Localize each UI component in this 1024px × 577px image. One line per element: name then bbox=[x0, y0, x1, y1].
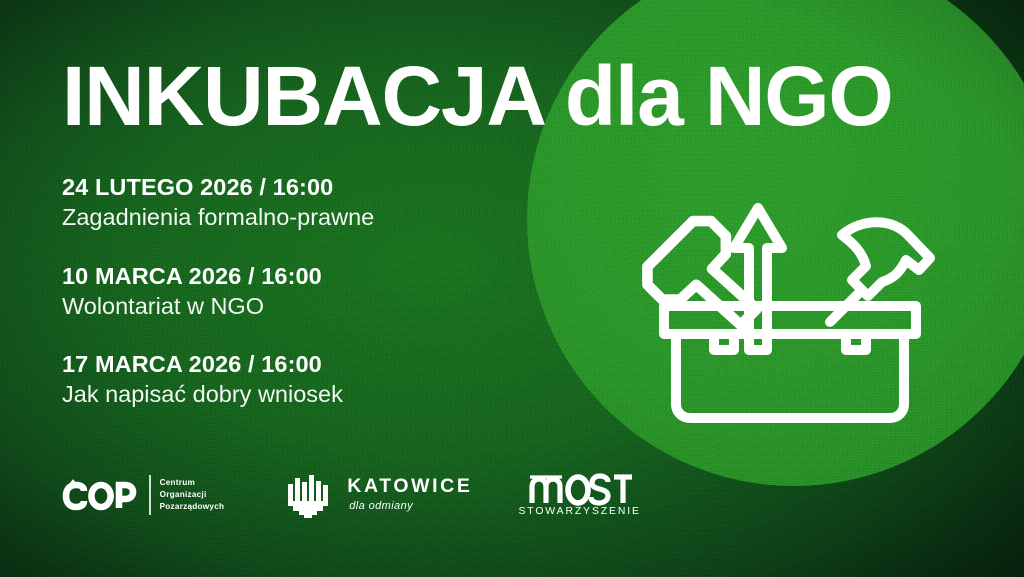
poster: INKUBACJA dla NGO 24 LUTEGO 2026 / 16:00… bbox=[0, 0, 1024, 577]
katowice-text: KATOWICE dla odmiany bbox=[347, 476, 472, 514]
poster-title: INKUBACJA dla NGO bbox=[62, 52, 893, 140]
cop-line-3: Pozarządowych bbox=[160, 502, 225, 512]
event-date: 10 MARCA 2026 / 16:00 bbox=[62, 261, 374, 291]
cop-divider bbox=[149, 475, 151, 515]
most-subtitle: STOWARZYSZENIE bbox=[518, 507, 640, 517]
event-topic: Jak napisać dobry wniosek bbox=[62, 379, 374, 410]
event-item: 10 MARCA 2026 / 16:00 Wolontariat w NGO bbox=[62, 261, 374, 323]
event-topic: Wolontariat w NGO bbox=[62, 291, 374, 322]
event-topic: Zagadnienia formalno-prawne bbox=[62, 202, 374, 233]
logo-row: Centrum Organizacji Pozarządowych bbox=[60, 472, 641, 518]
logo-cop: Centrum Organizacji Pozarządowych bbox=[60, 472, 224, 518]
logo-most: STOWARZYSZENIE bbox=[518, 472, 640, 517]
most-wordmark bbox=[528, 472, 632, 506]
logo-katowice: KATOWICE dla odmiany bbox=[286, 472, 472, 518]
cop-line-2: Organizacji bbox=[160, 490, 225, 500]
cop-fullname: Centrum Organizacji Pozarządowych bbox=[160, 478, 225, 511]
event-item: 17 MARCA 2026 / 16:00 Jak napisać dobry … bbox=[62, 349, 374, 411]
poster-content: INKUBACJA dla NGO 24 LUTEGO 2026 / 16:00… bbox=[0, 0, 1024, 577]
katowice-name: KATOWICE bbox=[347, 476, 472, 497]
toolbox-illustration bbox=[630, 190, 950, 430]
event-date: 24 LUTEGO 2026 / 16:00 bbox=[62, 172, 374, 202]
cop-line-1: Centrum bbox=[160, 478, 225, 488]
event-list: 24 LUTEGO 2026 / 16:00 Zagadnienia forma… bbox=[62, 172, 374, 411]
pixel-heart-icon bbox=[286, 472, 336, 518]
cop-acronym-mark bbox=[60, 472, 140, 518]
toolbox-icon bbox=[630, 190, 950, 430]
toolbox-lid bbox=[664, 306, 916, 334]
event-date: 17 MARCA 2026 / 16:00 bbox=[62, 349, 374, 379]
event-item: 24 LUTEGO 2026 / 16:00 Zagadnienia forma… bbox=[62, 172, 374, 234]
katowice-tagline: dla odmiany bbox=[349, 500, 472, 514]
